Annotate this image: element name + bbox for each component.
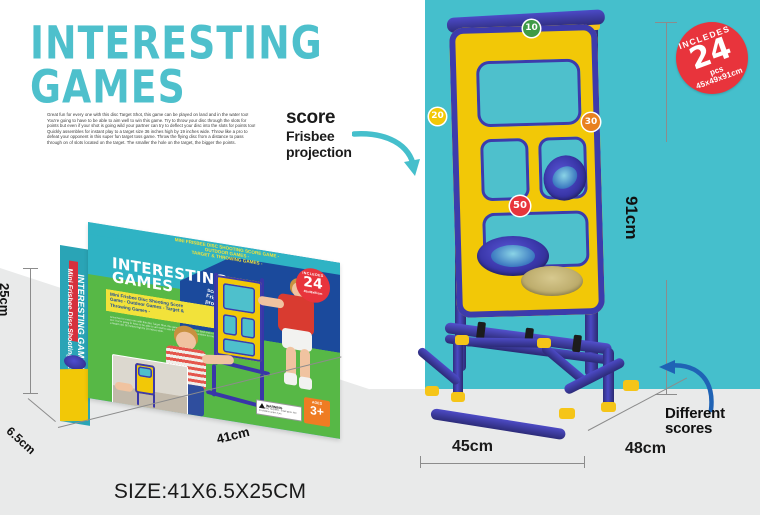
box-mini-hole-left xyxy=(223,314,237,336)
dim-label-height: 91cm xyxy=(621,196,641,239)
base-connector-front xyxy=(559,408,575,419)
includes-badge: INCLEDES 24 pcs 45x49x91cm xyxy=(676,22,748,94)
different-scores-line1: Different xyxy=(665,406,760,421)
retail-box-spine: Mini Frisbee Disc Shooting Score Game IN… xyxy=(60,245,90,426)
base-connector-right xyxy=(623,380,639,391)
box-mini-hole-top xyxy=(223,283,255,314)
base-connector-back-left xyxy=(455,335,469,345)
dim-label-box-height: 25cm xyxy=(0,283,12,316)
target-hole-bottom-left xyxy=(480,138,530,201)
base-connector-left xyxy=(425,386,439,396)
inset-photo-leg-right xyxy=(153,394,155,408)
target-game-product-illustration: 10 20 30 50 xyxy=(425,8,650,458)
score-point-50: 50 xyxy=(510,196,530,216)
inset-photo-leg-left xyxy=(137,391,139,405)
dim-tick-box-height-bottom xyxy=(23,393,38,394)
dim-line-box-height xyxy=(30,268,31,394)
curved-arrow-teal-icon xyxy=(352,128,422,184)
page-title-line2: GAMES xyxy=(30,66,326,110)
retail-box-spine-banner xyxy=(60,369,88,421)
different-scores-callout: Different scores xyxy=(665,406,760,436)
score-point-20: 20 xyxy=(429,108,446,125)
box-child-red-sock-left xyxy=(284,372,297,386)
base-bar-back xyxy=(463,337,545,347)
frisbee-disc-lower-face xyxy=(491,245,535,267)
dim-tick-box-height-top xyxy=(23,268,38,269)
dim-tick-width-right xyxy=(584,456,585,468)
page-title: INTERESTING GAMES xyxy=(30,22,326,110)
score-callout-title: score xyxy=(286,108,391,128)
product-description: Great fun for every one with this disc T… xyxy=(47,112,259,146)
retail-box-ages-badge: AGES 3+ xyxy=(304,397,330,427)
box-child-red-sock-right xyxy=(299,376,312,390)
target-hole-top xyxy=(476,58,582,127)
base-bar-front xyxy=(430,408,566,440)
box-child-striped-arm xyxy=(202,355,235,365)
box-mini-hole-bottom xyxy=(223,338,255,357)
dim-line-height-upper xyxy=(666,22,667,142)
inset-photo-hole xyxy=(138,366,152,378)
package-size-text: SIZE:41X6.5X25CM xyxy=(0,480,420,504)
base-connector-back-right xyxy=(537,338,551,348)
dim-label-depth: 48cm xyxy=(625,440,666,458)
page-title-line1: INTERESTING xyxy=(30,22,326,66)
dim-tick-height-top xyxy=(655,22,677,23)
retail-box-front: MINI FRISBEE DISC SHOOTING SCORE GAME - … xyxy=(88,222,340,439)
base-bar-back-left xyxy=(416,346,462,386)
dim-line-width xyxy=(420,463,585,464)
frisbee-disc-gold xyxy=(521,266,583,296)
score-point-30: 30 xyxy=(582,113,600,131)
score-point-10: 10 xyxy=(523,20,540,37)
different-scores-line2: scores xyxy=(665,421,760,436)
dim-label-width: 45cm xyxy=(452,438,493,456)
retail-box-illustration: Mini Frisbee Disc Shooting Score Game IN… xyxy=(58,216,358,431)
box-mini-hole-right xyxy=(241,317,255,339)
dim-tick-width-left xyxy=(420,456,421,468)
box-mini-target-board xyxy=(216,275,262,362)
product-marketing-sheet: INTERESTING GAMES Great fun for every on… xyxy=(0,0,760,515)
product-description-text: Great fun for every one with this disc T… xyxy=(47,112,259,146)
